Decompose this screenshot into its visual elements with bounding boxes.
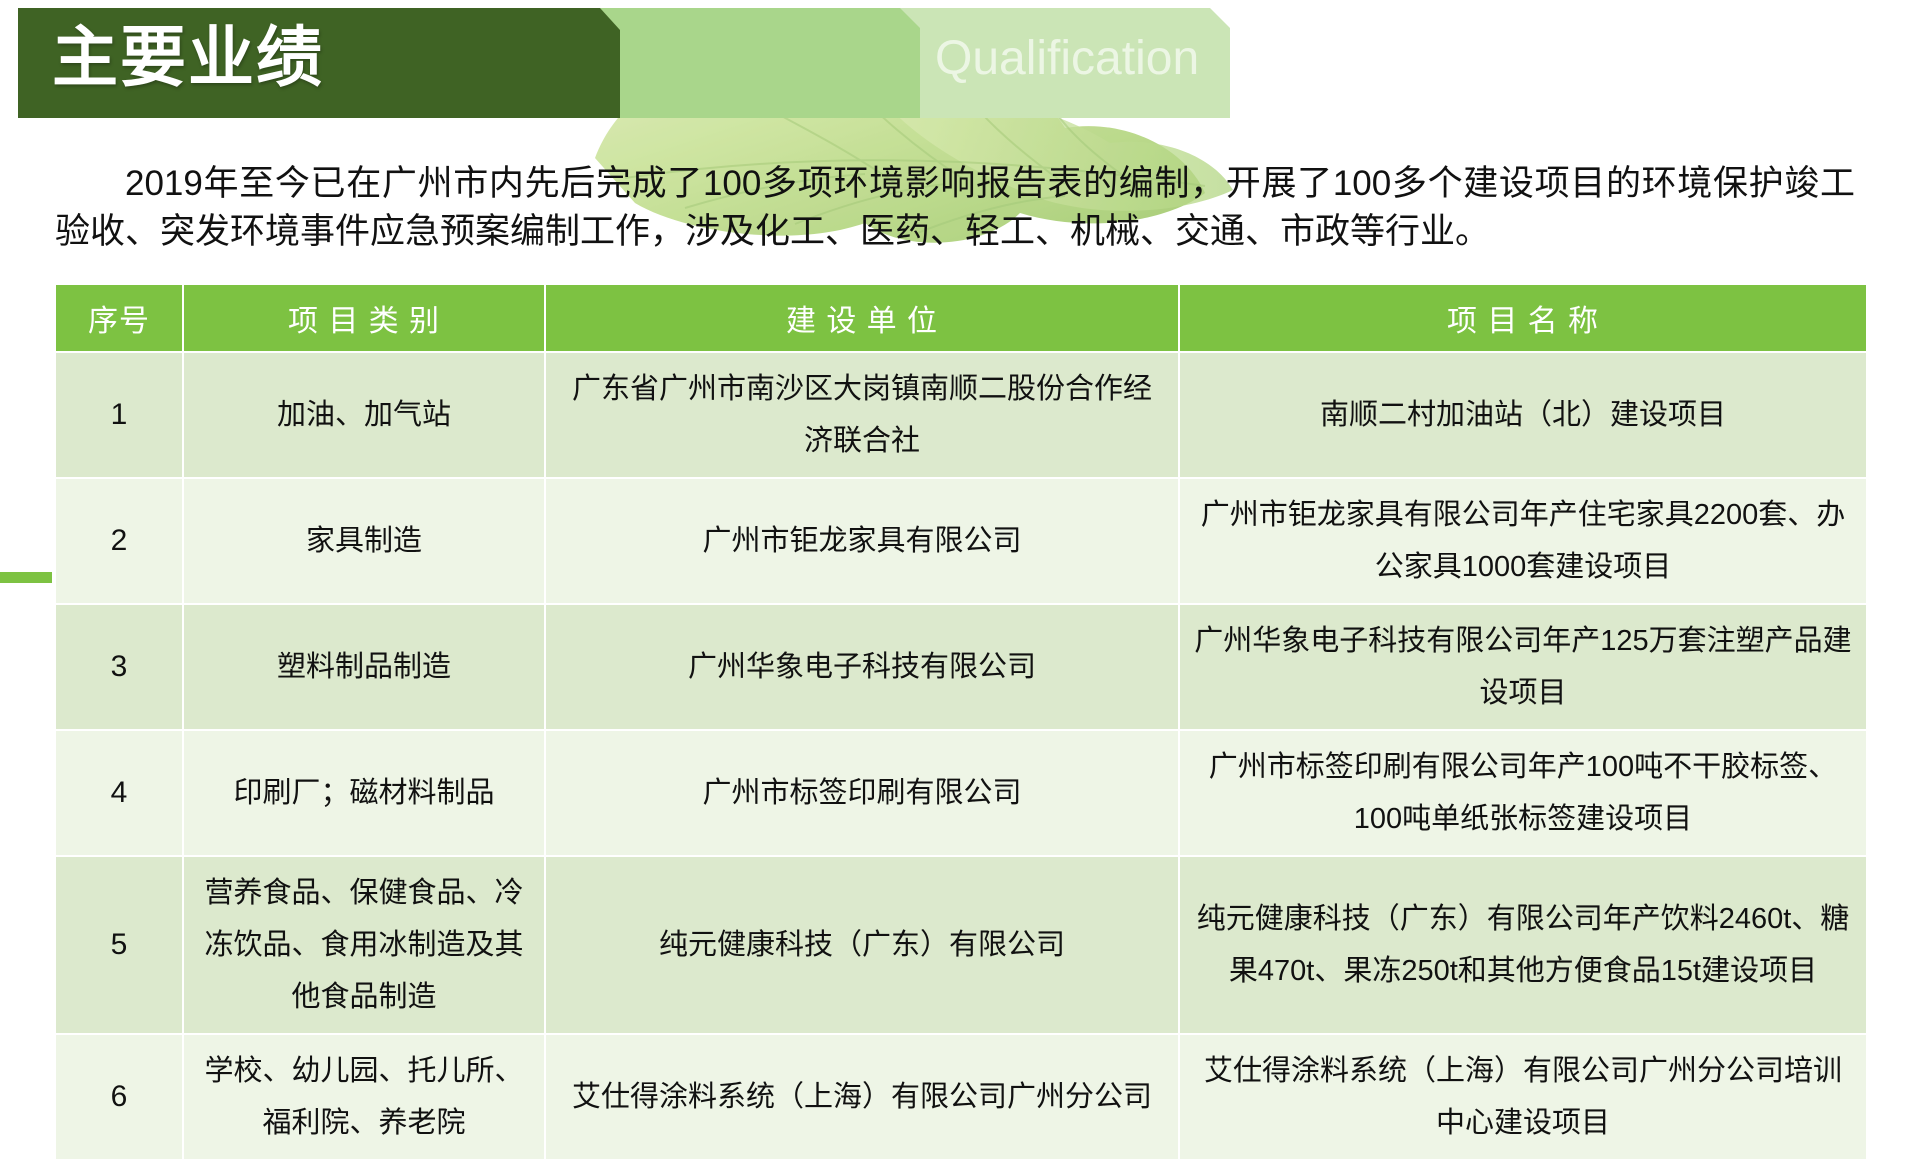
cell-project: 纯元健康科技（广东）有限公司年产饮料2460t、糖果470t、果冻250t和其他… [1179,856,1867,1034]
cell-category: 家具制造 [183,478,545,604]
performance-table: 序号 项 目 类 别 建 设 单 位 项 目 名 称 1 加油、加气站 广东省广… [54,283,1868,1161]
column-header-category: 项 目 类 别 [183,284,545,352]
page-title: 主要业绩 [52,14,324,100]
cell-category: 营养食品、保健食品、冷冻饮品、食用冰制造及其他食品制造 [183,856,545,1034]
intro-paragraph: 2019年至今已在广州市内先后完成了100多项环境影响报告表的编制，开展了100… [55,160,1855,256]
cell-index: 4 [55,730,183,856]
cell-category: 学校、幼儿园、托儿所、福利院、养老院 [183,1034,545,1160]
cell-category: 加油、加气站 [183,352,545,478]
cell-unit: 纯元健康科技（广东）有限公司 [545,856,1179,1034]
cell-unit: 广东省广州市南沙区大岗镇南顺二股份合作经济联合社 [545,352,1179,478]
table-row: 5 营养食品、保健食品、冷冻饮品、食用冰制造及其他食品制造 纯元健康科技（广东）… [55,856,1867,1034]
cell-index: 1 [55,352,183,478]
page-header-banner: 主要业绩 Qualification [0,0,1230,118]
cell-unit: 艾仕得涂料系统（上海）有限公司广州分公司 [545,1034,1179,1160]
cell-category: 印刷厂；磁材料制品 [183,730,545,856]
cell-project: 广州市钜龙家具有限公司年产住宅家具2200套、办公家具1000套建设项目 [1179,478,1867,604]
cell-category: 塑料制品制造 [183,604,545,730]
table-row: 2 家具制造 广州市钜龙家具有限公司 广州市钜龙家具有限公司年产住宅家具2200… [55,478,1867,604]
table-row: 1 加油、加气站 广东省广州市南沙区大岗镇南顺二股份合作经济联合社 南顺二村加油… [55,352,1867,478]
table-header-row: 序号 项 目 类 别 建 设 单 位 项 目 名 称 [55,284,1867,352]
cell-project: 广州华象电子科技有限公司年产125万套注塑产品建设项目 [1179,604,1867,730]
cell-unit: 广州市钜龙家具有限公司 [545,478,1179,604]
cell-index: 6 [55,1034,183,1160]
column-header-project: 项 目 名 称 [1179,284,1867,352]
page-subtitle: Qualification [935,28,1199,90]
cell-index: 2 [55,478,183,604]
cell-project: 广州市标签印刷有限公司年产100吨不干胶标签、100吨单纸张标签建设项目 [1179,730,1867,856]
table-row: 4 印刷厂；磁材料制品 广州市标签印刷有限公司 广州市标签印刷有限公司年产100… [55,730,1867,856]
cell-index: 3 [55,604,183,730]
table-row: 3 塑料制品制造 广州华象电子科技有限公司 广州华象电子科技有限公司年产125万… [55,604,1867,730]
cell-unit: 广州华象电子科技有限公司 [545,604,1179,730]
column-header-index: 序号 [55,284,183,352]
column-header-unit: 建 设 单 位 [545,284,1179,352]
cell-index: 5 [55,856,183,1034]
left-edge-accent-tab [0,572,52,583]
cell-project: 南顺二村加油站（北）建设项目 [1179,352,1867,478]
table-row: 6 学校、幼儿园、托儿所、福利院、养老院 艾仕得涂料系统（上海）有限公司广州分公… [55,1034,1867,1160]
cell-project: 艾仕得涂料系统（上海）有限公司广州分公司培训中心建设项目 [1179,1034,1867,1160]
cell-unit: 广州市标签印刷有限公司 [545,730,1179,856]
